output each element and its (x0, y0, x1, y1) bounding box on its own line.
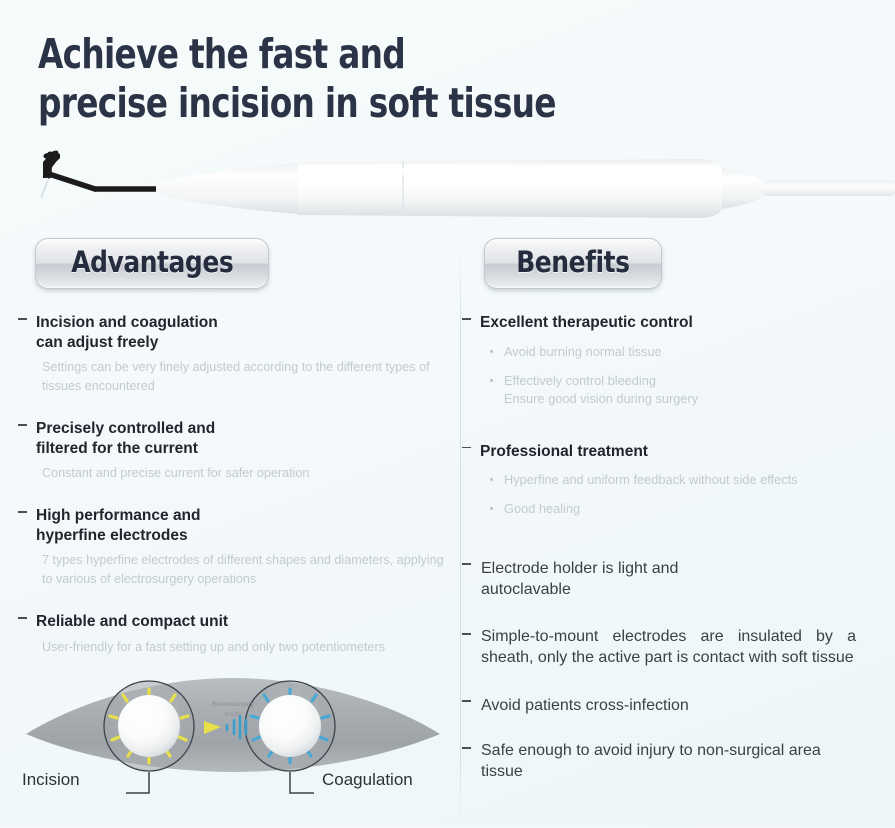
sub-text-extra: Ensure good vision during surgery (504, 390, 895, 408)
dash-marker-icon (18, 318, 27, 320)
advantage-title-line2: filtered for the current (36, 439, 453, 459)
benefit-title: Avoid patients cross-infection (481, 695, 895, 716)
list-item: Simple-to-mount electrodes are insulated… (462, 626, 895, 668)
list-item: Avoid patients cross-infection (462, 695, 895, 716)
benefit-title: Professional treatment (480, 442, 895, 462)
dash-marker-icon (18, 511, 27, 513)
benefits-column: Benefits Excellent therapeutic control A… (462, 238, 895, 802)
advantages-list: Incision and coagulation can adjust free… (18, 313, 453, 657)
list-item: Safe enough to avoid injury to non-surgi… (462, 740, 895, 782)
advantage-title-line2: can adjust freely (36, 333, 453, 353)
advantages-badge: Advantages (35, 238, 269, 289)
advantage-description: User-friendly for a fast setting up and … (36, 638, 453, 657)
list-item: High performance and hyperfine electrode… (18, 506, 453, 589)
list-item: Reliable and compact unit User-friendly … (18, 612, 453, 657)
handpiece-rear-taper (722, 168, 766, 209)
knob-incision[interactable] (118, 695, 180, 757)
incision-callout-label: Incision (22, 770, 80, 790)
advantages-badge-label: Advantages (71, 246, 233, 279)
benefits-list: Excellent therapeutic control Avoid burn… (462, 313, 895, 782)
sub-text: Good healing (504, 501, 580, 516)
benefit-title: Safe enough to avoid injury to non-surgi… (481, 740, 853, 782)
advantages-column: Advantages Incision and coagulation can … (18, 238, 453, 680)
knob-coagulation[interactable] (259, 695, 321, 757)
dash-marker-icon (462, 447, 471, 449)
benefits-badge-label: Benefits (516, 246, 629, 279)
list-item: Precisely controlled and filtered for th… (18, 419, 453, 483)
electrosurgery-handpiece-image (0, 140, 895, 240)
advantage-title-line1: High performance and (36, 506, 453, 526)
coagulation-leader-line (290, 772, 314, 793)
panel-brand-mark-line2: ES-IS (225, 712, 241, 718)
bullet-dot-icon (490, 379, 493, 382)
dash-marker-icon (462, 633, 471, 635)
benefit-title: Simple-to-mount electrodes are insulated… (481, 626, 856, 668)
dash-marker-icon (18, 424, 27, 426)
dash-marker-icon (18, 617, 27, 619)
advantage-description: Settings can be very finely adjusted acc… (36, 358, 453, 396)
advantage-title-line1: Reliable and compact unit (36, 612, 453, 632)
sub-list-item: Effectively control bleeding Ensure good… (489, 372, 895, 408)
benefit-sublist: Hyperfine and uniform feedback without s… (480, 471, 895, 518)
dash-marker-icon (462, 747, 471, 749)
benefit-sublist: Avoid burning normal tissue Effectively … (480, 343, 895, 408)
coagulation-callout-label: Coagulation (322, 770, 413, 790)
benefit-title: Excellent therapeutic control (480, 313, 895, 333)
sub-list-item: Avoid burning normal tissue (489, 343, 895, 361)
sub-text: Avoid burning normal tissue (504, 344, 662, 359)
dash-marker-icon (462, 563, 471, 565)
electrode-tip (41, 152, 160, 198)
bullet-dot-icon (490, 350, 493, 353)
advantage-description: 7 types hyperfine electrodes of differen… (36, 551, 453, 589)
handpiece-cable (762, 180, 895, 196)
headline-line-2: precise incision in soft tissue (38, 79, 550, 128)
benefit-title: Electrode holder is light and autoclavab… (481, 558, 696, 600)
dash-marker-icon (462, 700, 471, 702)
list-item: Incision and coagulation can adjust free… (18, 313, 453, 396)
list-item: Electrode holder is light and autoclavab… (462, 558, 895, 600)
bullet-dot-icon (490, 507, 493, 510)
sub-list-item: Good healing (489, 500, 895, 518)
advantage-title-line1: Precisely controlled and (36, 419, 453, 439)
list-item: Professional treatment Hyperfine and uni… (462, 442, 895, 519)
advantage-description: Constant and precise current for safer o… (36, 464, 453, 483)
advantage-title-line1: Incision and coagulation (36, 313, 453, 333)
control-panel-illustration: Electrosurgery ES-IS (18, 668, 448, 823)
handpiece-highlight (320, 170, 690, 172)
page-title: Achieve the fast and precise incision in… (38, 30, 678, 128)
dash-marker-icon (462, 318, 471, 320)
sub-text: Hyperfine and uniform feedback without s… (504, 472, 798, 487)
benefits-badge: Benefits (484, 238, 662, 289)
bullet-dot-icon (490, 478, 493, 481)
headline-line-1: Achieve the fast and (38, 30, 550, 79)
list-item: Excellent therapeutic control Avoid burn… (462, 313, 895, 408)
sub-text: Effectively control bleeding (504, 373, 656, 388)
advantage-title-line2: hyperfine electrodes (36, 526, 453, 546)
incision-leader-line (126, 772, 149, 793)
handpiece-nose-cone (156, 163, 300, 214)
sub-list-item: Hyperfine and uniform feedback without s… (489, 471, 895, 489)
panel-brand-mark-line1: Electrosurgery (212, 701, 255, 708)
